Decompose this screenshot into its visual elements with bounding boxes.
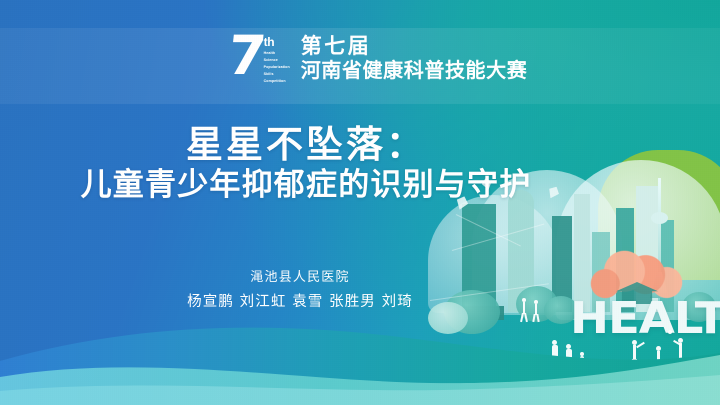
- logo-english-lines: Health Science Popularization Skills Com…: [264, 50, 290, 85]
- shuttlecock-icon: [668, 330, 672, 334]
- logo-english-line-2: Science: [264, 57, 290, 64]
- logo-seventh-mark: 7 th Health Science Popularization Skill…: [228, 34, 290, 85]
- logo-ordinal-suffix: th: [264, 36, 290, 48]
- presenter-organization: 渑池县人民医院: [0, 268, 600, 289]
- competition-full-name: 河南省健康科普技能大赛: [301, 59, 528, 83]
- competition-logo: 7 th Health Science Popularization Skill…: [228, 34, 527, 85]
- person-player1-body: [633, 345, 636, 360]
- presenter-names: 杨宣鹏 刘江虹 袁雪 张胜男 刘琦: [0, 291, 600, 315]
- page-title: 星星不坠落：: [0, 124, 612, 165]
- logo-side-text: th Health Science Popularization Skills …: [264, 36, 290, 85]
- competition-name: 第七届 河南省健康科普技能大赛: [301, 34, 528, 82]
- logo-english-line-4: Skills: [264, 71, 290, 78]
- page-subtitle: 儿童青少年抑郁症的识别与守护: [0, 168, 612, 204]
- presenter-block: 渑池县人民医院 杨宣鹏 刘江虹 袁雪 张胜男 刘琦: [0, 268, 600, 315]
- competition-edition: 第七届: [301, 35, 528, 59]
- logo-english-line-1: Health: [264, 50, 290, 57]
- logo-english-line-5: Competition: [264, 78, 290, 85]
- logo-english-line-3: Popularization: [264, 64, 290, 71]
- tv-tower-pod: [651, 212, 668, 224]
- title-slide: HEALTH 7 th: [0, 0, 720, 405]
- logo-number-7: 7: [226, 34, 265, 78]
